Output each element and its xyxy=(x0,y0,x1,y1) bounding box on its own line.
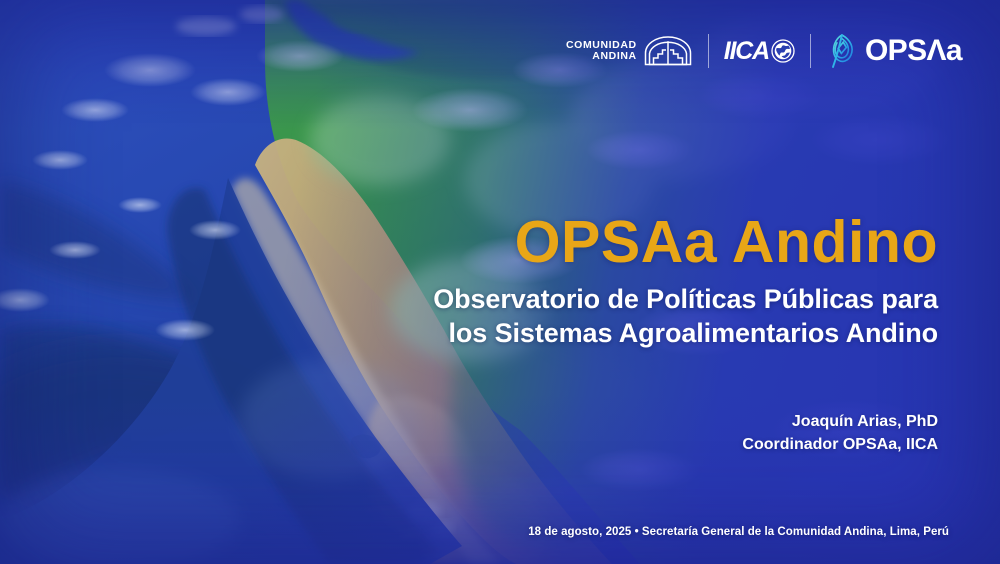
title-block: OPSAa Andino Observatorio de Políticas P… xyxy=(298,212,938,350)
subtitle-line-2: los Sistemas Agroalimentarios Andino xyxy=(298,316,938,350)
page-title: OPSAa Andino xyxy=(298,212,938,273)
footer-text: 18 de agosto, 2025 • Secretaría General … xyxy=(528,526,949,538)
andean-arch-icon xyxy=(644,36,692,66)
subtitle-line-1: Observatorio de Políticas Públicas para xyxy=(298,282,938,316)
author-role: Coordinador OPSAa, IICA xyxy=(742,434,938,457)
iica-wordmark: IICA xyxy=(724,37,769,66)
footer: 18 de agosto, 2025 • Secretaría General … xyxy=(528,522,949,540)
author-block: Joaquín Arias, PhD Coordinador OPSAa, II… xyxy=(742,411,938,456)
opsaa-wordmark: OPSΛa xyxy=(865,36,962,66)
logo-opsaa: OPSΛa xyxy=(811,34,962,68)
comunidad-andina-line2: ANDINA xyxy=(592,51,636,62)
author-name: Joaquín Arias, PhD xyxy=(742,411,938,434)
logo-comunidad-andina: COMUNIDAD ANDINA xyxy=(566,34,709,68)
leaf-icon xyxy=(827,33,857,69)
logo-iica: IICA xyxy=(709,34,811,68)
logo-bar: COMUNIDAD ANDINA IICA xyxy=(566,34,962,68)
comunidad-andina-wordmark: COMUNIDAD ANDINA xyxy=(566,40,637,63)
globe-icon xyxy=(771,39,795,63)
presentation-slide: COMUNIDAD ANDINA IICA xyxy=(0,0,1000,564)
page-subtitle: Observatorio de Políticas Públicas para … xyxy=(298,282,938,350)
